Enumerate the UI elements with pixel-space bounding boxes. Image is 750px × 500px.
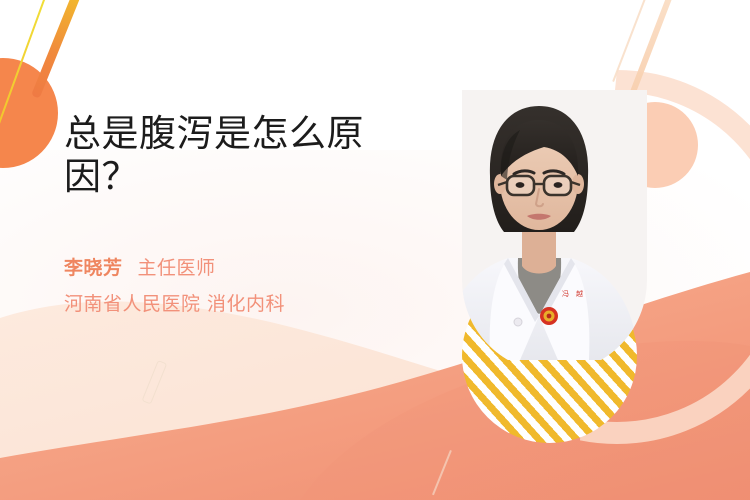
doctor-name: 李晓芳 [64, 253, 123, 280]
doctor-title: 主任医师 [138, 253, 216, 280]
page-title: 总是腹泻是怎么原因？ [64, 113, 424, 198]
video-cover-card: 冯 越 总是腹泻是怎么原因？ 李晓芳 主任医师 河南省 [0, 0, 750, 500]
text-block: 总是腹泻是怎么原因？ 李晓芳 主任医师 河南省人民医院 消化内科 [64, 113, 424, 316]
coat-button [514, 318, 522, 326]
doctor-affiliation: 河南省人民医院 消化内科 [64, 289, 424, 316]
doctor-eye-left [516, 182, 525, 188]
byline-row-primary: 李晓芳 主任医师 [64, 253, 424, 280]
doctor-portrait: 冯 越 [432, 90, 647, 380]
doctor-neck [522, 230, 556, 274]
doctor-photo: 冯 越 [432, 90, 647, 360]
coat-embroidery: 冯 越 [562, 289, 583, 298]
byline: 李晓芳 主任医师 河南省人民医院 消化内科 [64, 253, 424, 316]
doctor-eye-right [554, 182, 563, 188]
doctor-illustration: 冯 越 [432, 90, 647, 360]
doctor-badge [540, 307, 558, 325]
